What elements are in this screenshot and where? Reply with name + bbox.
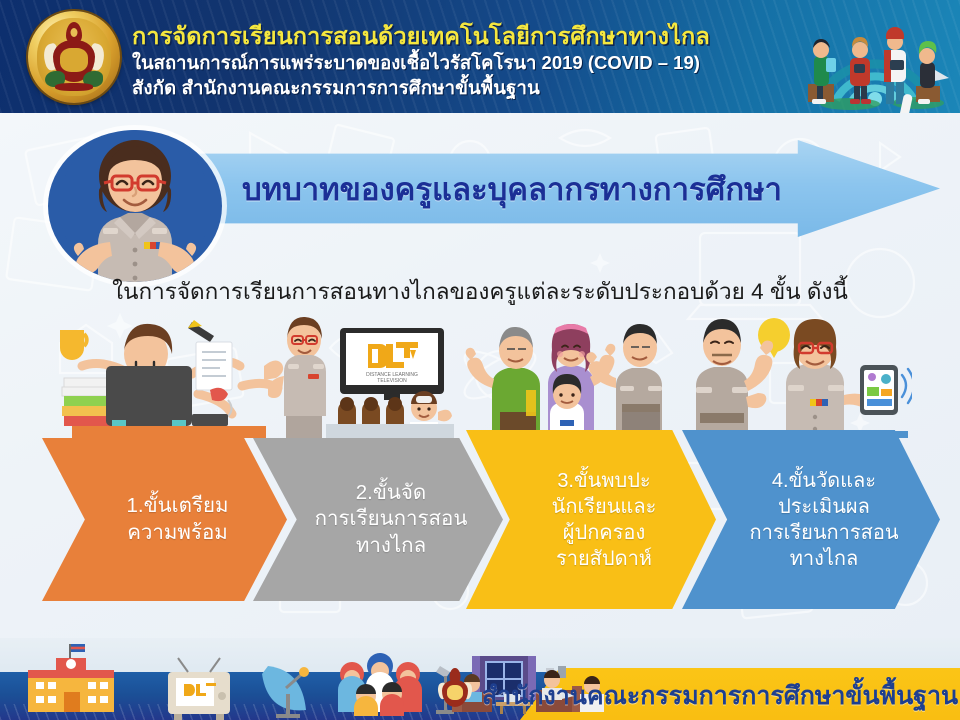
step-2-line-1: 2.ขั้นจัด bbox=[315, 480, 468, 507]
process-steps: 1.ขั้นเตรียม ความพร้อม 2.ขั้นจัด การเรีย… bbox=[0, 438, 960, 608]
step-3-chevron[interactable]: 3.ขั้นพบปะ นักเรียนและ ผู้ปกครอง รายสัปด… bbox=[466, 430, 716, 609]
illustration-row: DISTANCE LEARNING TELEVISION bbox=[0, 318, 960, 438]
teacher-avatar bbox=[48, 130, 222, 282]
step-4-line-4: ทางไกล bbox=[749, 546, 898, 572]
step-2-line-2: การเรียนการสอน bbox=[315, 506, 468, 533]
multitasking-teacher-desk-illustration bbox=[42, 316, 292, 438]
teachers-with-tablet-illustration bbox=[682, 313, 912, 438]
step-1-line-2: ความพร้อม bbox=[127, 520, 229, 547]
step-3-line-4: รายสัปดาห์ bbox=[552, 546, 657, 572]
obec-royal-emblem-icon bbox=[28, 11, 120, 103]
header-students-devices-illustration bbox=[790, 0, 960, 113]
step-4-line-2: ประเมินผล bbox=[749, 494, 898, 520]
banner-title: บทบาทของครูและบุคลากรทางการศึกษา bbox=[242, 164, 782, 214]
footer-emblem-icon bbox=[438, 668, 472, 712]
footer-bar: สำนักงานคณะกรรมการการศึกษาขั้นพื้นฐาน bbox=[0, 638, 960, 720]
svg-text:TELEVISION: TELEVISION bbox=[377, 378, 407, 384]
header-title-line1: การจัดการเรียนการสอนด้วยเทคโนโลยีการศึกษ… bbox=[132, 22, 772, 51]
step-4-chevron[interactable]: 4.ขั้นวัดและ ประเมินผล การเรียนการสอน ทา… bbox=[682, 430, 940, 609]
step-3-line-1: 3.ขั้นพบปะ bbox=[552, 468, 657, 494]
step-2-label: 2.ขั้นจัด การเรียนการสอน ทางไกล bbox=[289, 480, 468, 560]
step-1-label: 1.ขั้นเตรียม ความพร้อม bbox=[101, 493, 229, 546]
content-panel: บทบาทของครูและบุคลากรทางการศึกษา bbox=[0, 113, 960, 638]
header-title-line3: สังกัด สำนักงานคณะกรรมการการศึกษาขั้นพื้… bbox=[132, 76, 772, 101]
subtitle-text: ในการจัดการเรียนการสอนทางไกลของครูแต่ละร… bbox=[0, 273, 960, 309]
step-3-label: 3.ขั้นพบปะ นักเรียนและ ผู้ปกครอง รายสัปด… bbox=[526, 468, 657, 572]
step-4-line-3: การเรียนการสอน bbox=[749, 520, 898, 546]
step-3-line-3: ผู้ปกครอง bbox=[552, 520, 657, 546]
header-title-line2: ในสถานการณ์การแพร่ระบาดของเชื้อไวรัสโคโร… bbox=[132, 51, 772, 76]
family-parents-student-illustration bbox=[452, 316, 672, 438]
footer-title: สำนักงานคณะกรรมการการศึกษาขั้นพื้นฐาน bbox=[482, 676, 958, 716]
dltv-classroom-screen-illustration: DISTANCE LEARNING TELEVISION bbox=[268, 316, 468, 438]
header-title-group: การจัดการเรียนการสอนด้วยเทคโนโลยีการศึกษ… bbox=[132, 22, 772, 101]
slide-root: การจัดการเรียนการสอนด้วยเทคโนโลยีการศึกษ… bbox=[0, 0, 960, 720]
step-2-chevron[interactable]: 2.ขั้นจัด การเรียนการสอน ทางไกล bbox=[253, 438, 503, 601]
step-4-line-1: 4.ขั้นวัดและ bbox=[749, 468, 898, 494]
role-banner-arrow: บทบาทของครูและบุคลากรทางการศึกษา bbox=[150, 140, 940, 237]
step-2-line-3: ทางไกล bbox=[315, 533, 468, 560]
step-1-chevron[interactable]: 1.ขั้นเตรียม ความพร้อม bbox=[42, 438, 287, 601]
header-banner: การจัดการเรียนการสอนด้วยเทคโนโลยีการศึกษ… bbox=[0, 0, 960, 113]
step-4-label: 4.ขั้นวัดและ ประเมินผล การเรียนการสอน ทา… bbox=[723, 468, 898, 572]
step-1-line-1: 1.ขั้นเตรียม bbox=[127, 493, 229, 520]
step-3-line-2: นักเรียนและ bbox=[552, 494, 657, 520]
